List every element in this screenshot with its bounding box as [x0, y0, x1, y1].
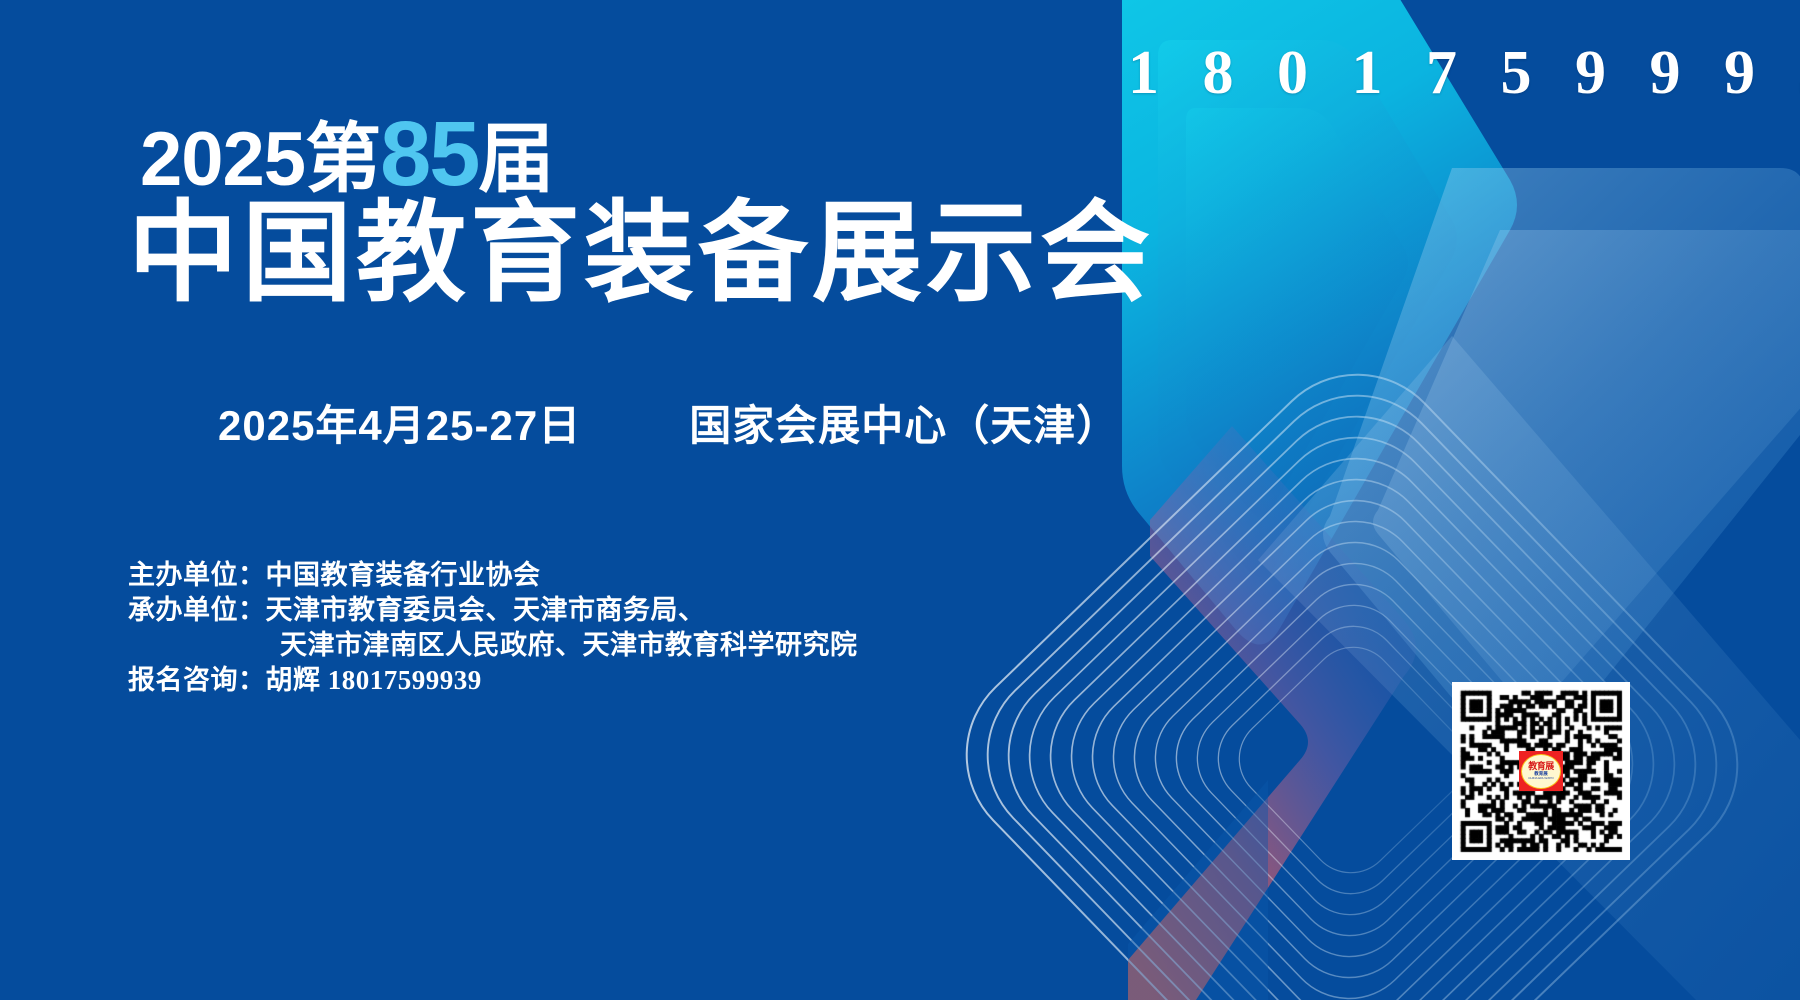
event-promo-banner: 1 8 0 1 7 5 9 9 9 3 9 2025第85届 中国教育装备展示会…	[0, 0, 1800, 1000]
red-gradient-ribbon	[1128, 426, 1416, 1000]
cyan-hex-inner-1	[1158, 40, 1457, 577]
qr-center-logo: 教育展 教育展 CHINA EDU EXPO	[1519, 751, 1563, 791]
qr-logo-main-text: 教育展	[1528, 762, 1554, 771]
lower-blue-wedge	[1128, 780, 1268, 1000]
qr-code[interactable]: 教育展 教育展 CHINA EDU EXPO	[1452, 682, 1630, 860]
qr-logo-oval: 教育展 教育展 CHINA EDU EXPO	[1521, 754, 1561, 789]
organizer-info-block: 主办单位：中国教育装备行业协会 承办单位：天津市教育委员会、天津市商务局、 天津…	[128, 558, 858, 698]
coorganizer-line-1: 承办单位：天津市教育委员会、天津市商务局、	[128, 593, 858, 628]
phone-number-headline: 1 8 0 1 7 5 9 9 9 3 9	[1128, 38, 1800, 109]
coorganizer-line-2: 天津市津南区人民政府、天津市教育科学研究院	[128, 628, 858, 663]
edition-line: 2025第85届	[140, 108, 553, 200]
light-ribbon-diagonal	[1258, 336, 1800, 1000]
event-date: 2025年4月25-27日	[218, 402, 581, 449]
light-ribbon-upper	[1323, 168, 1800, 771]
cyan-hex-inner-2	[1186, 108, 1408, 517]
event-venue: 国家会展中心（天津）	[689, 402, 1119, 449]
page-title: 中国教育装备展示会	[128, 196, 1154, 312]
registration-contact-line: 报名咨询：胡辉 18017599939	[128, 663, 858, 698]
light-ribbon-upper-2	[1373, 230, 1800, 708]
qr-logo-caption: CHINA EDU EXPO	[1528, 777, 1554, 780]
edition-suffix: 届	[478, 117, 553, 202]
event-meta-row: 2025年4月25-27日国家会展中心（天津）	[218, 392, 1119, 453]
edition-number: 85	[380, 103, 478, 205]
edition-prefix: 2025第	[140, 117, 380, 202]
host-organization-line: 主办单位：中国教育装备行业协会	[128, 558, 858, 593]
